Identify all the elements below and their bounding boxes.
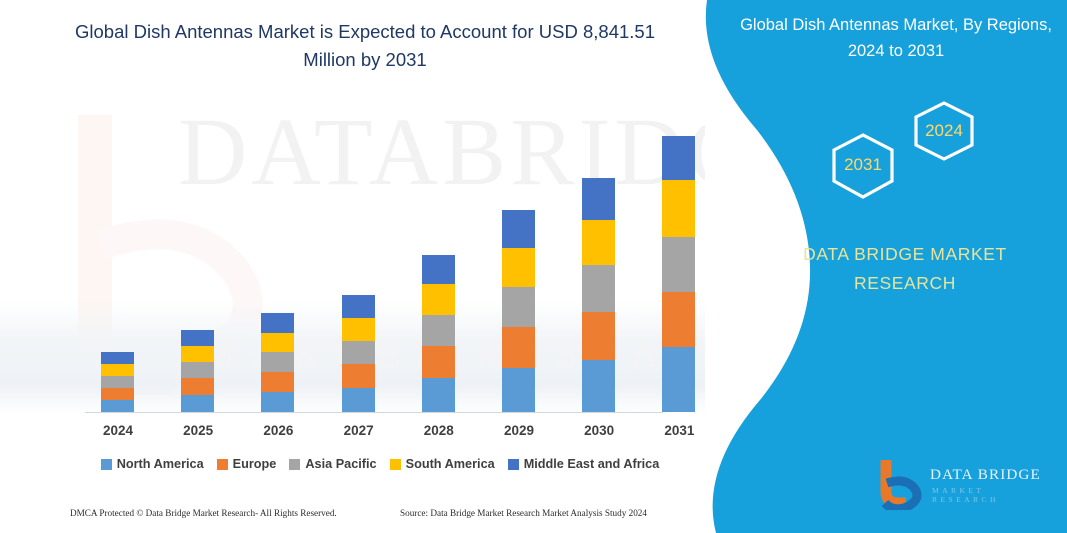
x-tick-2031: 2031 — [649, 423, 709, 438]
bar-segment-middle-east-and-africa — [181, 330, 214, 346]
bar-segment-south-america — [662, 180, 695, 237]
bar-segment-south-america — [181, 346, 214, 362]
legend-label: North America — [117, 457, 204, 471]
bar-segment-middle-east-and-africa — [261, 313, 294, 333]
bar-segment-europe — [582, 312, 615, 360]
data-bridge-logo: DATA BRIDGE MARKET RESEARCH — [876, 458, 1056, 514]
bar-segment-north-america — [582, 360, 615, 412]
bar-segment-asia-pacific — [582, 265, 615, 312]
legend-label: Asia Pacific — [305, 457, 376, 471]
bar-segment-middle-east-and-africa — [101, 352, 134, 364]
bar-segment-north-america — [181, 395, 214, 412]
infographic-canvas: DATABRIDGE MARKET RESEARCH Global Dish A… — [0, 0, 1067, 533]
bar-2026[interactable] — [261, 313, 294, 412]
bar-segment-north-america — [101, 400, 134, 412]
bar-segment-middle-east-and-africa — [582, 178, 615, 220]
bar-segment-north-america — [422, 378, 455, 412]
brand-line-2: RESEARCH — [854, 273, 956, 293]
footer-copyright: DMCA Protected © Data Bridge Market Rese… — [70, 508, 337, 518]
bar-segment-middle-east-and-africa — [422, 255, 455, 284]
bar-2030[interactable] — [582, 178, 615, 412]
footer-source: Source: Data Bridge Market Research Mark… — [400, 508, 647, 518]
x-tick-2024: 2024 — [88, 423, 148, 438]
logo-mark-icon — [876, 458, 926, 510]
chart-plot-area: 20242025202620272028202920302031 — [0, 0, 705, 533]
bar-segment-south-america — [261, 333, 294, 352]
bar-segment-asia-pacific — [261, 352, 294, 372]
x-tick-2030: 2030 — [569, 423, 629, 438]
bar-2031[interactable] — [662, 136, 695, 412]
bar-segment-europe — [181, 378, 214, 395]
bar-2028[interactable] — [422, 255, 455, 412]
bar-segment-europe — [101, 388, 134, 400]
panel-title: Global Dish Antennas Market, By Regions,… — [740, 12, 1052, 64]
brand-line-1: DATA BRIDGE MARKET — [803, 244, 1007, 264]
legend-swatch-icon — [289, 459, 300, 470]
bar-segment-asia-pacific — [342, 341, 375, 364]
bar-segment-europe — [422, 346, 455, 378]
legend-swatch-icon — [217, 459, 228, 470]
bar-segment-asia-pacific — [181, 362, 214, 378]
x-tick-2029: 2029 — [489, 423, 549, 438]
bar-2029[interactable] — [502, 210, 535, 412]
bar-segment-middle-east-and-africa — [662, 136, 695, 180]
bar-segment-middle-east-and-africa — [502, 210, 535, 248]
bar-segment-asia-pacific — [662, 237, 695, 292]
footer: DMCA Protected © Data Bridge Market Rese… — [0, 508, 705, 528]
legend-item-north-america[interactable]: North America — [101, 457, 204, 471]
legend-item-south-america[interactable]: South America — [390, 457, 495, 471]
legend-item-europe[interactable]: Europe — [217, 457, 277, 471]
bar-segment-south-america — [101, 364, 134, 376]
legend-item-middle-east-and-africa[interactable]: Middle East and Africa — [508, 457, 660, 471]
bar-segment-europe — [502, 327, 535, 368]
chart-legend: North AmericaEuropeAsia PacificSouth Ame… — [85, 457, 675, 471]
bar-2025[interactable] — [181, 330, 214, 412]
hexagon-badges: 2024 2031 — [820, 100, 1040, 210]
legend-label: Europe — [233, 457, 277, 471]
legend-swatch-icon — [390, 459, 401, 470]
brand-name: DATA BRIDGE MARKET RESEARCH — [760, 240, 1050, 298]
bar-2024[interactable] — [101, 352, 134, 412]
bar-segment-north-america — [662, 347, 695, 412]
legend-swatch-icon — [101, 459, 112, 470]
bar-segment-south-america — [582, 220, 615, 265]
x-axis-line — [85, 412, 663, 413]
bar-segment-europe — [662, 292, 695, 347]
bar-segment-north-america — [261, 392, 294, 412]
bar-segment-asia-pacific — [502, 287, 535, 327]
bar-segment-south-america — [422, 284, 455, 315]
bar-segment-asia-pacific — [101, 376, 134, 388]
bar-segment-europe — [342, 364, 375, 388]
x-tick-2025: 2025 — [168, 423, 228, 438]
logo-subtitle: MARKET RESEARCH — [932, 486, 1056, 504]
legend-swatch-icon — [508, 459, 519, 470]
bar-segment-asia-pacific — [422, 315, 455, 346]
bar-segment-south-america — [342, 318, 375, 341]
x-tick-2027: 2027 — [329, 423, 389, 438]
hex-label-2031: 2031 — [828, 155, 898, 175]
bar-segment-middle-east-and-africa — [342, 295, 375, 318]
bar-segment-south-america — [502, 248, 535, 287]
bar-segment-north-america — [502, 368, 535, 412]
bar-segment-north-america — [342, 388, 375, 412]
bar-2027[interactable] — [342, 295, 375, 412]
bar-segment-europe — [261, 372, 294, 392]
logo-title: DATA BRIDGE — [930, 466, 1041, 484]
legend-item-asia-pacific[interactable]: Asia Pacific — [289, 457, 376, 471]
hex-label-2024: 2024 — [909, 121, 979, 141]
legend-label: South America — [406, 457, 495, 471]
x-tick-2028: 2028 — [409, 423, 469, 438]
x-tick-2026: 2026 — [248, 423, 308, 438]
legend-label: Middle East and Africa — [524, 457, 660, 471]
x-axis-labels: 20242025202620272028202920302031 — [85, 423, 663, 443]
